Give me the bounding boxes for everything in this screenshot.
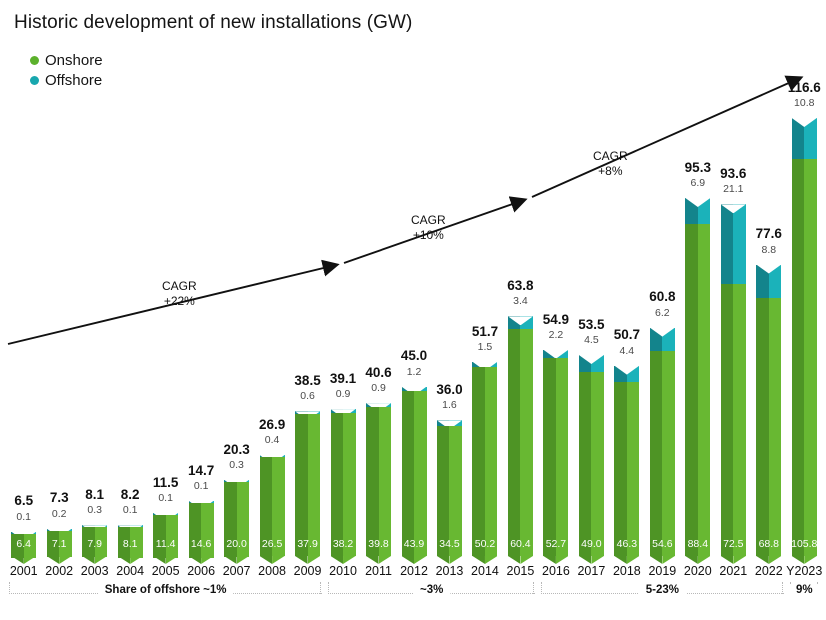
bar-onshore-label: 38.2 xyxy=(333,539,353,550)
bar-onshore-label: 26.5 xyxy=(262,539,282,550)
bar-onshore-label: 7.1 xyxy=(52,539,67,550)
bar-group[interactable]: 51.71.550.2 xyxy=(472,361,497,556)
bar-stack xyxy=(650,328,675,556)
bar-segment-onshore[interactable] xyxy=(402,391,427,556)
bar-bottom-point xyxy=(472,556,497,564)
bar-offshore-label: 6.9 xyxy=(691,178,706,189)
bracket-tick-right xyxy=(320,582,322,594)
bar-offshore-label: 0.2 xyxy=(52,509,67,520)
bar-bottom-point xyxy=(402,556,427,564)
bar-segment-offshore[interactable] xyxy=(756,265,781,298)
bar-segment-onshore[interactable] xyxy=(685,224,710,556)
bar-offshore-label: 2.2 xyxy=(549,330,564,341)
bar-total-label: 93.6 xyxy=(720,167,746,181)
bar-offshore-label: 0.3 xyxy=(229,460,244,471)
bar-group[interactable]: 95.36.988.4 xyxy=(685,197,710,556)
bar-segment-onshore[interactable] xyxy=(650,351,675,556)
bar-bottom-point xyxy=(792,556,817,564)
bar-face-right xyxy=(308,414,321,556)
bar-onshore-label: 37.9 xyxy=(297,539,317,550)
bar-total-label: 40.6 xyxy=(365,366,391,380)
bar-group[interactable]: 11.50.111.4 xyxy=(153,512,178,556)
bracket-tick-right xyxy=(782,582,784,594)
cagr-annotation-3: CAGR +8% xyxy=(593,149,628,179)
bracket-label: ~3% xyxy=(413,584,450,596)
bar-group[interactable]: 45.01.243.9 xyxy=(402,386,427,556)
bar-face-left xyxy=(721,284,734,556)
bar-face-right xyxy=(343,413,356,556)
bar-face-left xyxy=(650,351,663,556)
bar-face-left xyxy=(685,224,698,556)
bar-total-label: 50.7 xyxy=(614,328,640,342)
bar-group[interactable]: 7.30.27.1 xyxy=(47,528,72,556)
bar-face-right xyxy=(769,298,782,556)
bar-offshore-label: 3.4 xyxy=(513,296,528,307)
bar-onshore-label: 6.4 xyxy=(16,539,31,550)
bar-segment-onshore[interactable] xyxy=(508,329,533,556)
bar-face-right xyxy=(627,382,640,556)
bar-bottom-point xyxy=(11,556,36,564)
bar-segment-offshore[interactable] xyxy=(508,316,533,329)
plot-area: 6.50.16.420017.30.27.120028.10.37.920038… xyxy=(0,0,826,620)
bar-face-left xyxy=(295,414,308,556)
bar-total-label: 36.0 xyxy=(436,383,462,397)
bar-offshore-label: 8.8 xyxy=(761,245,776,256)
bar-group[interactable]: 40.60.939.8 xyxy=(366,402,391,556)
bar-bottom-point xyxy=(756,556,781,564)
bar-offshore-label: 6.2 xyxy=(655,308,670,319)
bar-onshore-label: 11.4 xyxy=(156,539,176,550)
bar-face-right xyxy=(556,358,569,556)
bracket-label: Share of offshore ~1% xyxy=(98,584,234,596)
bar-total-label: 53.5 xyxy=(578,318,604,332)
bar-face-right xyxy=(414,391,427,556)
bar-segment-offshore[interactable] xyxy=(543,350,568,358)
bar-total-label: 95.3 xyxy=(685,161,711,175)
bar-face-right xyxy=(698,224,711,556)
x-axis-label: 2017 xyxy=(577,564,605,578)
bar-offshore-label: 0.9 xyxy=(371,383,386,394)
bar-offshore-label: 0.1 xyxy=(158,493,173,504)
bar-total-label: 54.9 xyxy=(543,313,569,327)
bar-onshore-label: 50.2 xyxy=(475,539,495,550)
bar-total-label: 77.6 xyxy=(756,227,782,241)
bar-total-label: 45.0 xyxy=(401,349,427,363)
bar-face-left xyxy=(153,515,166,558)
bar-onshore-label: 43.9 xyxy=(404,539,424,550)
bar-onshore-label: 14.6 xyxy=(191,539,211,550)
bar-face-left xyxy=(437,426,450,556)
bar-group[interactable]: 54.92.252.7 xyxy=(543,349,568,556)
bar-group[interactable]: 77.68.868.8 xyxy=(756,264,781,556)
bar-offshore-label: 1.2 xyxy=(407,367,422,378)
bar-face-left xyxy=(579,372,592,556)
bar-stack xyxy=(685,198,710,556)
x-axis-label: 2009 xyxy=(294,564,322,578)
bar-segment-offshore[interactable] xyxy=(614,366,639,383)
bar-stack xyxy=(614,366,639,556)
bar-offshore-label: 0.6 xyxy=(300,391,315,402)
bar-stack xyxy=(508,316,533,556)
bar-face-right xyxy=(449,426,462,556)
bar-bottom-point xyxy=(82,556,107,564)
bar-onshore-label: 60.4 xyxy=(510,539,530,550)
bar-offshore-label: 1.6 xyxy=(442,400,457,411)
bar-total-label: 26.9 xyxy=(259,418,285,432)
bar-offshore-label: 0.4 xyxy=(265,435,280,446)
bar-bottom-point xyxy=(189,556,214,564)
bar-segment-onshore[interactable] xyxy=(756,298,781,556)
bracket-label: 9% xyxy=(789,584,820,596)
bar-bottom-point xyxy=(721,556,746,564)
bar-total-label: 51.7 xyxy=(472,325,498,339)
bar-stack xyxy=(402,387,427,556)
bar-offshore-label: 0.9 xyxy=(336,389,351,400)
bar-face-right xyxy=(520,329,533,556)
bar-face-left xyxy=(614,382,627,556)
bar-onshore-label: 49.0 xyxy=(581,539,601,550)
bar-segment-offshore[interactable] xyxy=(685,198,710,224)
bar-stack xyxy=(579,355,604,556)
bar-bottom-point xyxy=(579,556,604,564)
bar-total-label: 116.6 xyxy=(788,81,821,95)
bar-group[interactable]: 8.20.18.1 xyxy=(118,524,143,556)
x-axis-label: 2015 xyxy=(507,564,535,578)
bar-offshore-label: 0.1 xyxy=(123,505,138,516)
bar-group[interactable]: 38.50.637.9 xyxy=(295,410,320,556)
x-axis-label: 2005 xyxy=(152,564,180,578)
bar-face-right xyxy=(733,284,746,556)
bar-bottom-point xyxy=(685,556,710,564)
bar-onshore-label: 8.1 xyxy=(123,539,138,550)
bar-onshore-label: 88.4 xyxy=(688,539,708,550)
bracket-label: 5-23% xyxy=(639,584,686,596)
bar-bottom-point xyxy=(153,556,178,564)
bar-bottom-point xyxy=(366,556,391,564)
bar-bottom-point xyxy=(331,556,356,564)
bar-face-right xyxy=(379,407,392,557)
bar-stack xyxy=(437,420,462,556)
x-axis-label: Y2023 xyxy=(786,564,822,578)
bar-face-left xyxy=(331,413,344,556)
bar-group[interactable]: 14.70.114.6 xyxy=(189,500,214,556)
bar-onshore-label: 46.3 xyxy=(617,539,637,550)
bar-segment-onshore[interactable] xyxy=(543,358,568,556)
bar-group[interactable]: 8.10.37.9 xyxy=(82,524,107,556)
bar-segment-onshore[interactable] xyxy=(579,372,604,556)
x-axis-label: 2018 xyxy=(613,564,641,578)
bar-segment-offshore[interactable] xyxy=(650,328,675,351)
bar-group[interactable]: 60.86.254.6 xyxy=(650,327,675,556)
bar-face-right xyxy=(733,204,746,283)
bar-stack xyxy=(295,411,320,556)
bar-segment-offshore[interactable] xyxy=(579,355,604,372)
bar-bottom-point xyxy=(614,556,639,564)
bar-bottom-point xyxy=(508,556,533,564)
bar-onshore-label: 34.5 xyxy=(439,539,459,550)
bar-face-left xyxy=(792,159,805,556)
bar-bottom-point xyxy=(650,556,675,564)
bar-segment-onshore[interactable] xyxy=(331,413,356,556)
bar-offshore-label: 21.1 xyxy=(723,184,743,195)
bracket-share-9pct: 9% xyxy=(790,582,819,604)
bar-stack xyxy=(366,403,391,556)
bar-bottom-point xyxy=(437,556,462,564)
bar-bottom-point xyxy=(118,556,143,564)
bar-stack xyxy=(331,409,356,556)
bracket-tick-right xyxy=(533,582,535,594)
x-axis-label: 2003 xyxy=(81,564,109,578)
bar-offshore-label: 0.3 xyxy=(87,505,102,516)
bar-bottom-point xyxy=(260,556,285,564)
cagr-annotation-1: CAGR +22% xyxy=(162,279,197,309)
bar-face-right xyxy=(591,372,604,556)
bar-face-left xyxy=(402,391,415,556)
bar-segment-onshore[interactable] xyxy=(366,407,391,557)
bar-offshore-label: 4.5 xyxy=(584,335,599,346)
x-axis-label: 2016 xyxy=(542,564,570,578)
x-axis-label: 2001 xyxy=(10,564,38,578)
bar-group[interactable]: 20.30.320.0 xyxy=(224,479,249,556)
bar-total-label: 8.1 xyxy=(85,488,104,502)
bar-onshore-label: 20.0 xyxy=(226,539,246,550)
bar-offshore-label: 10.8 xyxy=(794,98,814,109)
bar-onshore-label: 72.5 xyxy=(723,539,743,550)
bar-onshore-label: 52.7 xyxy=(546,539,566,550)
cagr-annotation-2: CAGR +10% xyxy=(411,213,446,243)
bar-stack xyxy=(792,118,817,556)
bar-stack xyxy=(472,362,497,556)
bar-group[interactable]: 63.83.460.4 xyxy=(508,315,533,556)
bar-total-label: 7.3 xyxy=(50,491,69,505)
bar-total-label: 11.5 xyxy=(153,476,179,490)
bar-group[interactable]: 6.50.16.4 xyxy=(11,531,36,556)
bar-offshore-label: 0.1 xyxy=(16,512,31,523)
bar-offshore-label: 1.5 xyxy=(478,342,493,353)
x-axis-label: 2007 xyxy=(223,564,251,578)
bar-bottom-point xyxy=(224,556,249,564)
bar-group[interactable]: 39.10.938.2 xyxy=(331,408,356,556)
bar-segment-onshore[interactable] xyxy=(472,367,497,556)
bar-face-right xyxy=(804,159,817,556)
bar-group[interactable]: 26.90.426.5 xyxy=(260,454,285,556)
bar-total-label: 6.5 xyxy=(14,494,33,508)
x-axis-label: 2021 xyxy=(719,564,747,578)
bar-face-left xyxy=(543,358,556,556)
bar-total-label: 60.8 xyxy=(649,290,675,304)
bar-bottom-point xyxy=(543,556,568,564)
bar-segment-onshore[interactable] xyxy=(295,414,320,556)
chart-container: Historic development of new installation… xyxy=(0,0,826,620)
bar-onshore-label: 39.8 xyxy=(368,539,388,550)
bar-group[interactable]: 53.54.549.0 xyxy=(579,354,604,556)
bar-offshore-label: 0.1 xyxy=(194,481,209,492)
x-axis-label: 2006 xyxy=(187,564,215,578)
bar-stack xyxy=(756,265,781,556)
x-axis-label: 2014 xyxy=(471,564,499,578)
bar-onshore-label: 54.6 xyxy=(652,539,672,550)
bar-group[interactable]: 93.621.172.5 xyxy=(721,203,746,556)
bar-bottom-point xyxy=(47,556,72,564)
bracket-share-5-23pct: 5-23% xyxy=(541,582,783,604)
bar-total-label: 20.3 xyxy=(223,443,249,457)
bar-segment-offshore[interactable] xyxy=(721,204,746,283)
bar-face-left xyxy=(472,367,485,556)
bar-total-label: 38.5 xyxy=(294,374,320,388)
bar-segment-onshore[interactable] xyxy=(614,382,639,556)
bar-segment-onshore[interactable] xyxy=(153,515,178,558)
bar-face-left xyxy=(508,329,521,556)
bar-total-label: 14.7 xyxy=(188,464,214,478)
bar-total-label: 63.8 xyxy=(507,279,533,293)
bar-face-right xyxy=(485,367,498,556)
bar-segment-onshore[interactable] xyxy=(721,284,746,556)
bar-stack xyxy=(543,350,568,556)
x-axis-label: 2011 xyxy=(365,564,392,578)
bar-group[interactable]: 50.74.446.3 xyxy=(614,365,639,556)
x-axis-label: 2013 xyxy=(436,564,464,578)
x-axis-label: 2019 xyxy=(648,564,676,578)
x-axis-label: 2012 xyxy=(400,564,428,578)
x-axis-label: 2004 xyxy=(116,564,144,578)
x-axis-label: 2002 xyxy=(45,564,73,578)
x-axis-label: 2020 xyxy=(684,564,712,578)
bar-onshore-label: 105.8 xyxy=(791,539,817,550)
bar-onshore-label: 68.8 xyxy=(759,539,779,550)
bar-face-left xyxy=(366,407,379,557)
bar-segment-offshore[interactable] xyxy=(792,118,817,159)
bar-face-left xyxy=(721,204,734,283)
bracket-share-3pct: ~3% xyxy=(328,582,535,604)
bar-group[interactable]: 116.610.8105.8 xyxy=(792,117,817,556)
bar-group[interactable]: 36.01.634.5 xyxy=(437,419,462,556)
bar-segment-onshore[interactable] xyxy=(437,426,462,556)
x-axis-label: 2008 xyxy=(258,564,286,578)
bar-segment-onshore[interactable] xyxy=(792,159,817,556)
bracket-share-1pct: Share of offshore ~1% xyxy=(9,582,322,604)
bar-face-left xyxy=(756,298,769,556)
x-axis-label: 2010 xyxy=(329,564,357,578)
bar-offshore-label: 4.4 xyxy=(620,346,635,357)
x-axis-label: 2022 xyxy=(755,564,783,578)
bar-total-label: 8.2 xyxy=(121,488,140,502)
bar-stack xyxy=(721,204,746,556)
bar-bottom-point xyxy=(295,556,320,564)
bar-face-right xyxy=(662,351,675,556)
bar-face-right xyxy=(166,515,179,558)
bar-onshore-label: 7.9 xyxy=(87,539,102,550)
bar-total-label: 39.1 xyxy=(330,372,356,386)
